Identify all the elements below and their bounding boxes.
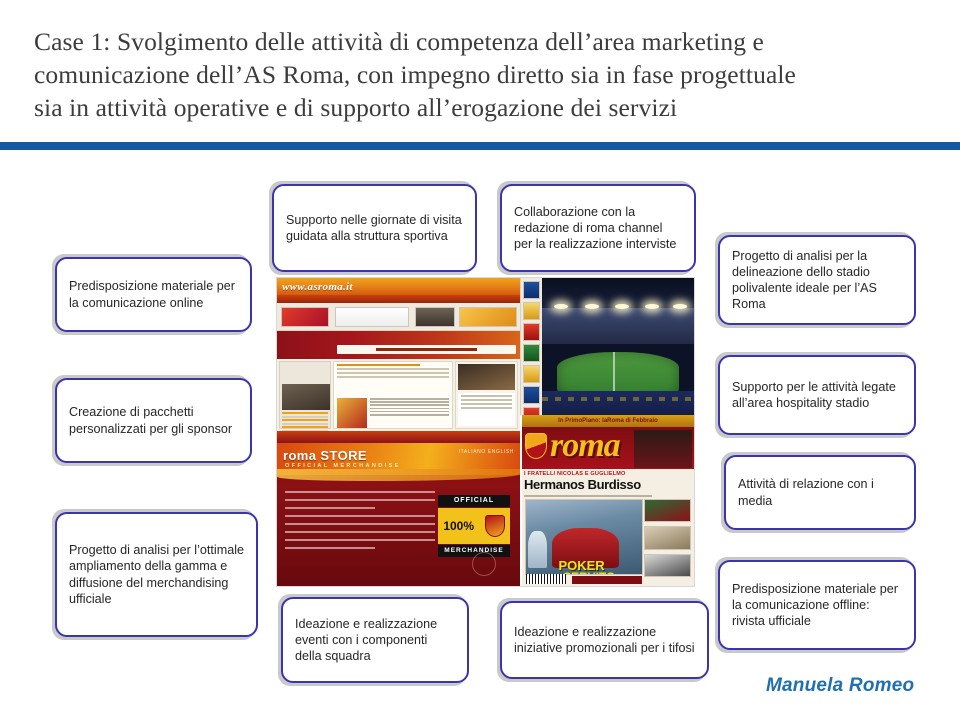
magazine-top-strip: In PrimoPiano: laRoma di Febbraio xyxy=(522,415,694,427)
text-line xyxy=(370,414,449,416)
sponsor-tile xyxy=(523,323,540,341)
asroma-website-screenshot: www.asroma.it xyxy=(277,278,520,443)
store-address-list xyxy=(285,491,435,555)
callout-iniziative-tifosi[interactable]: Ideazione e realizzazione iniziative pro… xyxy=(500,601,709,679)
text-line xyxy=(285,523,435,525)
magazine-headline-block: I FRATELLI NICOLAS E GUGLIELMO Hermanos … xyxy=(524,471,652,497)
callout-pacchetti-sponsor[interactable]: Creazione di pacchetti personalizzati pe… xyxy=(55,378,252,463)
website-body xyxy=(277,359,520,431)
sponsor-tile xyxy=(523,344,540,362)
article-line xyxy=(337,376,449,378)
article-paragraph xyxy=(370,398,449,426)
table-row xyxy=(282,426,328,428)
callout-text: Supporto per le attività legate all’area… xyxy=(720,379,914,411)
magazine-headline: Hermanos Burdisso xyxy=(524,477,652,492)
magazine-main-photo: POKER SERVITO xyxy=(525,499,643,575)
website-topbar: www.asroma.it xyxy=(277,278,520,295)
website-left-column xyxy=(279,361,331,429)
magazine-barcode xyxy=(526,574,566,584)
floodlight xyxy=(645,304,659,309)
sponsor-tile xyxy=(523,302,540,320)
text-line xyxy=(461,407,512,409)
callout-text: Attività di relazione con i media xyxy=(726,476,914,508)
callout-relazione-media[interactable]: Attività di relazione con i media xyxy=(724,455,916,530)
floodlight xyxy=(554,304,568,309)
table-row xyxy=(282,416,328,418)
sponsor-tile xyxy=(523,386,540,404)
floodlight xyxy=(615,304,629,309)
page-title-line-2: comunicazione dell’AS Roma, con impegno … xyxy=(34,59,930,92)
collage-image: www.asroma.it xyxy=(277,278,694,586)
text-line xyxy=(285,499,435,501)
callout-text: Progetto di analisi per l’ottimale ampli… xyxy=(57,542,256,606)
callout-text: Predisposizione materiale per la comunic… xyxy=(720,581,914,629)
table-row xyxy=(282,412,328,414)
badge-center: 100% xyxy=(438,508,510,544)
floodlight xyxy=(585,304,599,309)
callout-roma-channel[interactable]: Collaborazione con la redazione di roma … xyxy=(500,184,696,272)
page-title: Case 1: Svolgimento delle attività di co… xyxy=(34,26,930,125)
magazine-footer-bar xyxy=(572,576,642,584)
sponsor-tile xyxy=(523,281,540,299)
banner-ad xyxy=(335,307,409,327)
floodlight xyxy=(673,304,687,309)
asroma-crest-icon xyxy=(525,433,547,459)
left-column-photo xyxy=(282,384,330,410)
opponent-player xyxy=(528,531,547,568)
magazine-photo-underline: SERVITO xyxy=(563,570,615,575)
text-line xyxy=(285,547,375,549)
callout-stadio-polivalente[interactable]: Progetto di analisi per la delineazione … xyxy=(718,235,916,325)
text-line xyxy=(285,507,375,509)
website-right-column xyxy=(455,361,518,429)
sponsor-tile xyxy=(523,365,540,383)
side-story xyxy=(644,526,691,549)
callout-text: Collaborazione con la redazione di roma … xyxy=(502,204,694,252)
official-merchandise-badge: OFFICIAL 100% MERCHANDISE xyxy=(438,495,510,557)
text-line xyxy=(370,404,449,406)
callout-text: Ideazione e realizzazione iniziative pro… xyxy=(502,624,707,656)
author-signature: Manuela Romeo xyxy=(766,675,914,697)
banner-ad xyxy=(415,307,455,327)
badge-top-label: OFFICIAL xyxy=(438,495,510,507)
magazine-logo: roma xyxy=(550,429,620,463)
store-title: roma STORE xyxy=(283,448,367,463)
text-line xyxy=(461,395,512,397)
page-title-line-3: sia in attività operative e di supporto … xyxy=(34,92,930,125)
text-line xyxy=(285,491,435,493)
table-row xyxy=(282,423,328,425)
callout-text: Ideazione e realizzazione eventi con i c… xyxy=(283,616,467,664)
store-header-wave xyxy=(277,469,520,481)
standings-table xyxy=(282,412,328,426)
callout-text: Creazione di pacchetti personalizzati pe… xyxy=(57,404,250,436)
side-story xyxy=(644,499,691,522)
magazine-side-stories xyxy=(644,499,691,574)
store-body: OFFICIAL 100% MERCHANDISE xyxy=(277,483,520,586)
magazine-strip-text: In PrimoPiano: laRoma di Febbraio xyxy=(522,415,694,427)
website-center-column xyxy=(333,361,453,429)
website-footer xyxy=(277,431,520,443)
callout-hospitality[interactable]: Supporto per le attività legate all’area… xyxy=(718,355,916,435)
text-line xyxy=(370,398,449,400)
text-line xyxy=(285,539,435,541)
banner-ad xyxy=(281,307,329,327)
callout-eventi-squadra[interactable]: Ideazione e realizzazione eventi con i c… xyxy=(281,597,469,683)
banner-ad xyxy=(459,307,517,327)
quote-box xyxy=(458,393,515,426)
callout-comunicazione-offline[interactable]: Predisposizione materiale per la comunic… xyxy=(718,560,916,650)
article-thumbnail xyxy=(337,398,367,428)
page-title-line-1: Case 1: Svolgimento delle attività di co… xyxy=(34,26,930,59)
callout-text: Progetto di analisi per la delineazione … xyxy=(720,248,914,312)
stadium-upper-stand xyxy=(542,308,694,344)
asroma-crest-icon xyxy=(485,515,505,537)
article-line xyxy=(337,372,449,374)
website-navbar xyxy=(277,295,520,303)
store-seal-icon xyxy=(472,552,496,576)
text-line xyxy=(461,403,512,405)
slide-canvas: Case 1: Svolgimento delle attività di co… xyxy=(0,0,960,720)
badge-percent: 100% xyxy=(443,519,474,533)
text-line xyxy=(285,531,435,533)
asroma-store-screenshot: roma STORE OFFICIAL MERCHANDISE ITALIANO… xyxy=(277,443,520,586)
magazine-subline xyxy=(524,495,652,497)
stadium-floodlights xyxy=(542,304,694,312)
callout-merchandising[interactable]: Progetto di analisi per l’ottimale ampli… xyxy=(55,512,258,637)
article-heading xyxy=(337,364,420,366)
website-hero xyxy=(277,331,520,359)
magazine-cover-players-photo xyxy=(634,430,692,468)
table-row xyxy=(282,419,328,421)
article-line xyxy=(337,368,449,370)
text-line xyxy=(370,408,449,410)
website-banner-strip xyxy=(277,303,520,331)
magazine-cover: In PrimoPiano: laRoma di Febbraio roma I… xyxy=(520,415,694,586)
side-story xyxy=(644,554,691,577)
website-logo: www.asroma.it xyxy=(282,281,353,293)
callout-predisposizione-online[interactable]: Predisposizione materiale per la comunic… xyxy=(55,257,252,332)
callout-text: Supporto nelle giornate di visita guidat… xyxy=(274,212,475,244)
store-language-links: ITALIANO ENGLISH xyxy=(459,449,514,455)
text-line xyxy=(285,515,435,517)
website-hero-headline xyxy=(337,345,516,354)
magazine-masthead: roma xyxy=(522,427,694,469)
text-line xyxy=(370,411,449,413)
callout-text: Predisposizione materiale per la comunic… xyxy=(57,278,250,310)
header-divider xyxy=(0,142,960,150)
text-line xyxy=(461,399,512,401)
callout-visita-guidata[interactable]: Supporto nelle giornate di visita guidat… xyxy=(272,184,477,272)
player-photo xyxy=(458,364,515,390)
text-line xyxy=(370,401,449,403)
